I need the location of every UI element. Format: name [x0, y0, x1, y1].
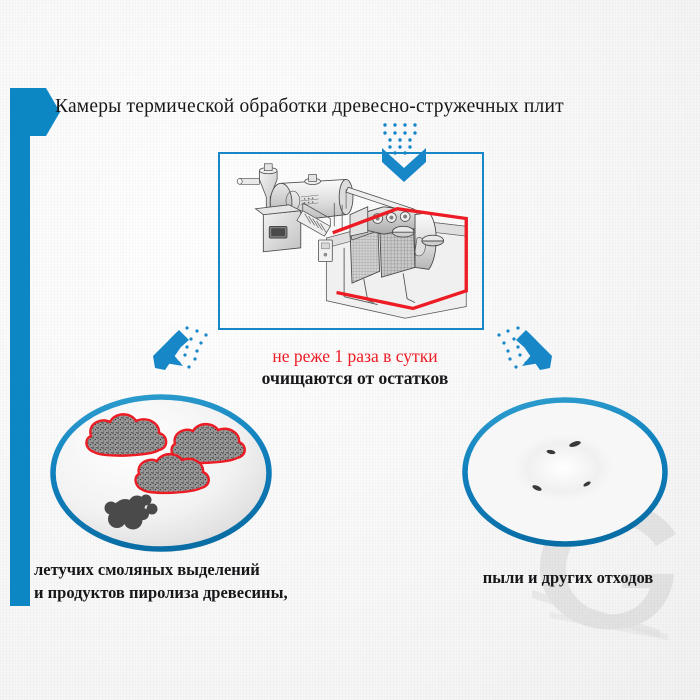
- caption-left-bottom: летучих смоляных выделений и продуктов п…: [34, 558, 364, 604]
- page-title: Камеры термической обработки древесно-ст…: [55, 96, 665, 118]
- thermal-treatment-chamber-illustration: [220, 154, 482, 328]
- caption-left-line1: летучих смоляных выделений: [34, 558, 364, 581]
- resin-emission-clouds-icon: [47, 392, 275, 555]
- caption-frequency-text: не реже 1 раза в сутки: [180, 346, 530, 367]
- slide-canvas: Камеры термической обработки древесно-ст…: [0, 0, 700, 700]
- center-caption: не реже 1 раза в сутки очищаются от оста…: [180, 346, 530, 389]
- dust-particles-icon: [455, 392, 675, 552]
- thermal-chamber-diagram-frame: [218, 152, 484, 330]
- caption-right-bottom: пыли и других отходов: [436, 566, 700, 589]
- caption-action-text: очищаются от остатков: [180, 367, 530, 389]
- caption-left-line2: и продуктов пиролиза древесины,: [34, 581, 364, 604]
- left-accent-band: [10, 88, 30, 606]
